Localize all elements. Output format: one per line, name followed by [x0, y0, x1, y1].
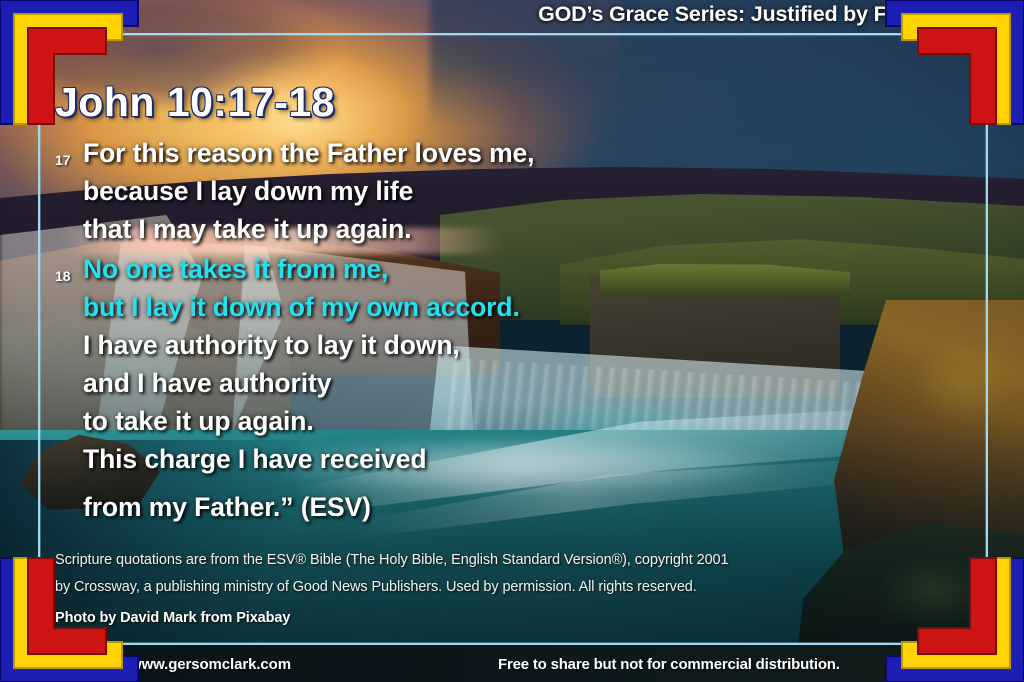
footer-sharing-note: Free to share but not for commercial dis… [498, 656, 840, 673]
verse-number-17: 17 [55, 152, 71, 168]
verse-line: because I lay down my life [83, 176, 413, 207]
scripture-reference: John 10:17-18 [55, 79, 335, 126]
verse-line: No one takes it from me, [83, 254, 388, 285]
esv-copyright-line-2: by Crossway, a publishing ministry of Go… [55, 579, 697, 595]
verse-number-18: 18 [55, 268, 71, 284]
photo-credit: Photo by David Mark from Pixabay [55, 610, 290, 626]
verse-line: For this reason the Father loves me, [83, 138, 534, 169]
verse-line: This charge I have received [83, 444, 426, 475]
verse-line: but I lay it down of my own accord. [83, 292, 520, 323]
verse-line: and I have authority [83, 368, 331, 399]
verse-line: from my Father.” (ESV) [83, 492, 371, 523]
verse-line: to take it up again. [83, 406, 314, 437]
footer-website-url[interactable]: www.gersomclark.com [130, 656, 291, 673]
verse-line: I have authority to lay it down, [83, 330, 460, 361]
verse-line: that I may take it up again. [83, 214, 412, 245]
esv-copyright-line-1: Scripture quotations are from the ESV® B… [55, 552, 729, 568]
